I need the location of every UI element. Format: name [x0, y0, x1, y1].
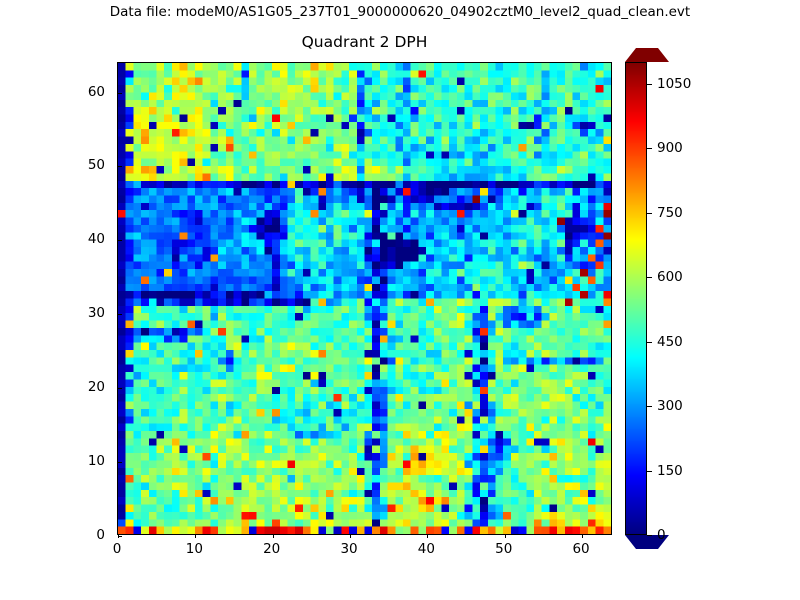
heatmap-image[interactable]	[118, 63, 611, 534]
colorbar-tick-600	[647, 277, 652, 278]
colorbar-tick-900	[647, 148, 652, 149]
heatmap-axes[interactable]	[117, 62, 612, 535]
x-tick-label-0: 0	[113, 541, 122, 557]
colorbar-tick-750	[647, 213, 652, 214]
y-tick-label-50: 50	[88, 157, 105, 173]
colorbar-tick-label-750: 750	[657, 205, 683, 221]
plot-title: Quadrant 2 DPH	[117, 33, 612, 51]
y-tick-label-20: 20	[88, 379, 105, 395]
colorbar-tick-300	[647, 406, 652, 407]
colorbar-tick-label-150: 150	[657, 463, 683, 479]
colorbar-tick-label-450: 450	[657, 334, 683, 350]
y-tick-50	[118, 166, 122, 167]
y-tick-20	[118, 388, 122, 389]
y-tick-label-10: 10	[88, 453, 105, 469]
colorbar-over-arrow-icon	[625, 48, 669, 62]
colorbar-tick-450	[647, 342, 652, 343]
colorbar-tick-label-900: 900	[657, 140, 683, 156]
figure-canvas: Data file: modeM0/AS1G05_237T01_90000006…	[0, 0, 800, 600]
x-tick-label-10: 10	[186, 541, 203, 557]
colorbar-tick-labels: 01503004506007509001050	[625, 62, 647, 535]
y-tick-label-40: 40	[88, 231, 105, 247]
x-tick-label-20: 20	[263, 541, 280, 557]
colorbar-tick-0	[647, 535, 652, 536]
colorbar-tick-1050	[647, 84, 652, 85]
colorbar-tick-label-1050: 1050	[657, 76, 691, 92]
y-tick-40	[118, 240, 122, 241]
y-tick-label-30: 30	[88, 305, 105, 321]
y-tick-30	[118, 314, 122, 315]
y-axis-tick-labels: 0102030405060	[0, 62, 113, 535]
colorbar-tick-150	[647, 471, 652, 472]
y-tick-60	[118, 93, 122, 94]
x-tick-label-50: 50	[495, 541, 512, 557]
colorbar[interactable]: 01503004506007509001050	[625, 62, 647, 535]
x-axis-tick-labels: 0102030405060	[117, 535, 612, 565]
y-tick-label-60: 60	[88, 84, 105, 100]
colorbar-tick-label-300: 300	[657, 398, 683, 414]
y-tick-10	[118, 462, 122, 463]
x-tick-label-60: 60	[572, 541, 589, 557]
x-tick-label-40: 40	[418, 541, 435, 557]
y-tick-label-0: 0	[96, 527, 105, 543]
data-file-suptitle: Data file: modeM0/AS1G05_237T01_90000006…	[0, 4, 800, 20]
x-tick-label-30: 30	[340, 541, 357, 557]
colorbar-tick-label-0: 0	[657, 527, 666, 543]
colorbar-tick-label-600: 600	[657, 269, 683, 285]
